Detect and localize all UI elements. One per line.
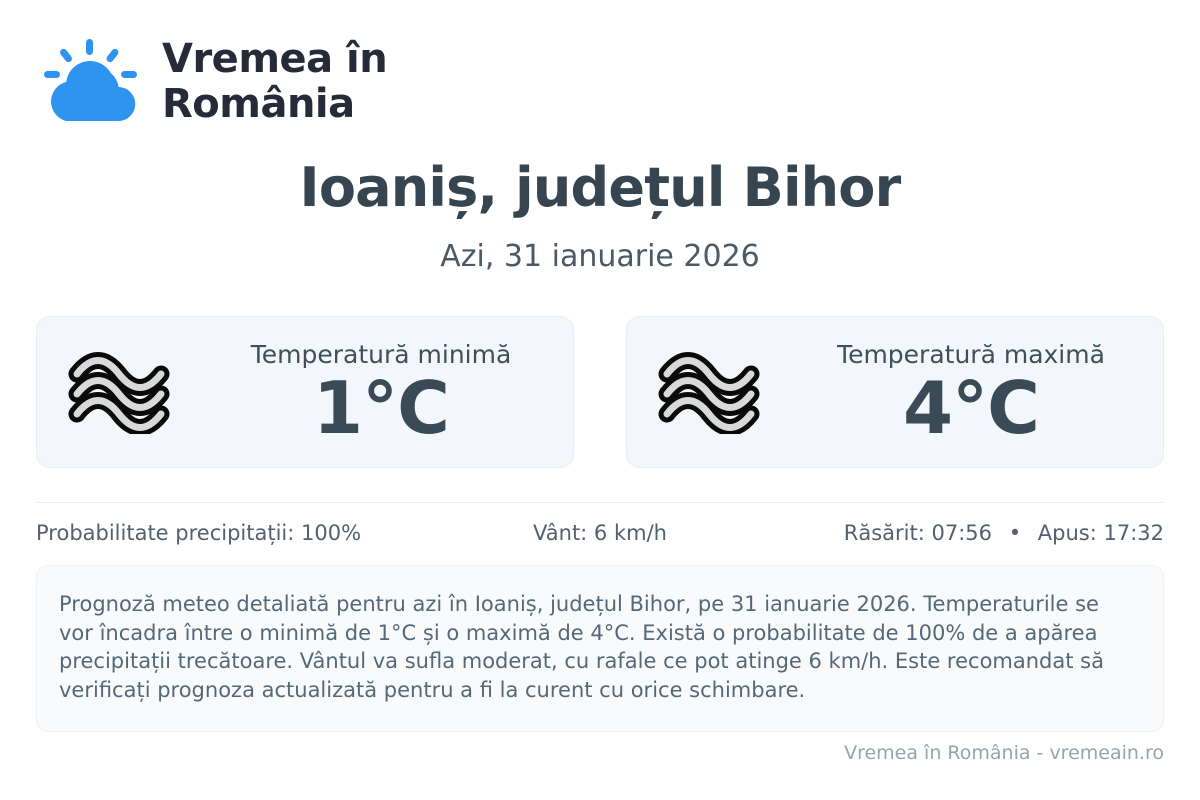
max-temperature-body: Temperatură maximă 4°C [807,341,1135,445]
sun-behind-cloud-icon [36,37,144,127]
wind-stat: Vânt: 6 km/h [412,521,788,545]
temperature-cards: Temperatură minimă 1°C [36,316,1164,468]
brand-name: Vremea în România [162,37,387,127]
sun-times-stat: Răsărit: 07:56 • Apus: 17:32 [788,521,1164,545]
precipitation-stat: Probabilitate precipitații: 100% [36,521,412,545]
stats-divider [36,502,1164,503]
min-temperature-body: Temperatură minimă 1°C [217,341,545,445]
fog-waves-icon [65,350,197,434]
title-block: Ioaniș, județul Bihor Azi, 31 ianuarie 2… [36,158,1164,274]
fog-waves-icon [655,350,787,434]
weather-page: Vremea în România Ioaniș, județul Bihor … [0,0,1200,800]
max-temperature-card: Temperatură maximă 4°C [626,316,1164,468]
min-temperature-value: 1°C [313,372,449,444]
forecast-description: Prognoză meteo detaliată pentru azi în I… [36,565,1164,731]
stats-row: Probabilitate precipitații: 100% Vânt: 6… [36,521,1164,545]
brand-header[interactable]: Vremea în România [36,0,1164,120]
footer-credit: Vremea în România - vremeain.ro [844,742,1164,764]
max-temperature-value: 4°C [903,372,1039,444]
sunset-value: Apus: 17:32 [1038,521,1164,545]
sunrise-value: Răsărit: 07:56 [844,521,992,545]
max-temperature-label: Temperatură maximă [837,341,1105,369]
page-subtitle: Azi, 31 ianuarie 2026 [36,239,1164,274]
min-temperature-card: Temperatură minimă 1°C [36,316,574,468]
min-temperature-label: Temperatură minimă [251,341,512,369]
bullet-separator-icon: • [1009,521,1021,545]
page-title: Ioaniș, județul Bihor [36,158,1164,217]
